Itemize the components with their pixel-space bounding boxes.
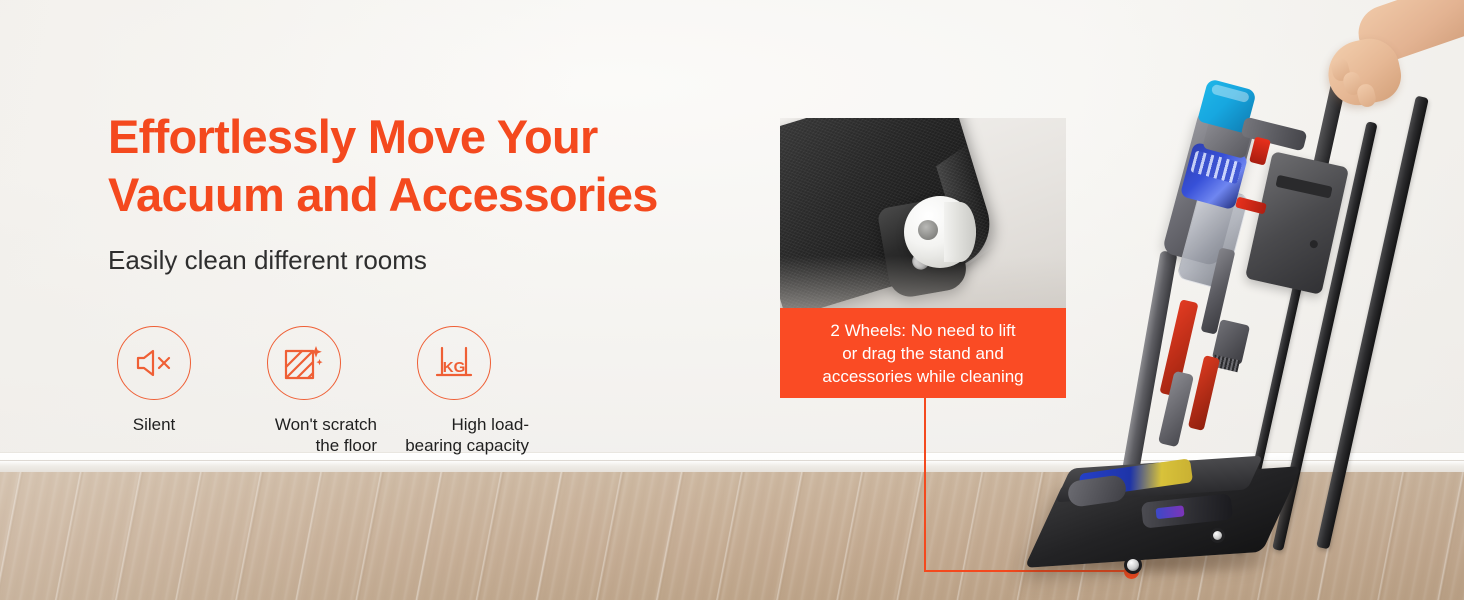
feature-label: Silent: [79, 414, 229, 435]
vacuum-handle-arm: [1241, 117, 1308, 152]
headline-block: Effortlessly Move Your Vacuum and Access…: [108, 108, 748, 276]
wheel-hub: [918, 220, 938, 240]
feature-item-scratch-proof: Won't scratch the floor: [254, 326, 354, 456]
page-title: Effortlessly Move Your Vacuum and Access…: [108, 108, 748, 224]
feature-item-load-capacity: KG High load- bearing capacity: [404, 326, 504, 456]
mute-speaker-icon: [117, 326, 191, 400]
vacuum-stand-with-hand-photo: [1020, 0, 1464, 600]
scratch-proof-tile-icon: [267, 326, 341, 400]
load-capacity-kg-icon: KG: [417, 326, 491, 400]
headline-line-1: Effortlessly Move Your: [108, 108, 748, 166]
feature-label: Won't scratch the floor: [229, 414, 379, 456]
dock-slot: [1275, 175, 1332, 199]
feature-item-silent: Silent: [104, 326, 204, 435]
feature-list: Silent Won't scratch the floor: [104, 326, 504, 456]
headline-line-2: Vacuum and Accessories: [108, 166, 748, 224]
base-wheel-rear: [1210, 528, 1225, 543]
feature-label: High load- bearing capacity: [379, 414, 529, 456]
svg-text:KG: KG: [443, 359, 466, 376]
vacuum-trigger: [1249, 136, 1271, 165]
wheel-side-face: [944, 202, 976, 262]
product-feature-banner: Effortlessly Move Your Vacuum and Access…: [0, 0, 1464, 600]
leader-line-vertical: [924, 398, 926, 572]
base-wheel-front: [1124, 556, 1142, 574]
subheadline: Easily clean different rooms: [108, 244, 748, 276]
accessory-red-tool-2: [1188, 355, 1220, 431]
dock-screw: [1309, 239, 1319, 249]
callout-text: 2 Wheels: No need to lift or drag the st…: [814, 319, 1031, 388]
